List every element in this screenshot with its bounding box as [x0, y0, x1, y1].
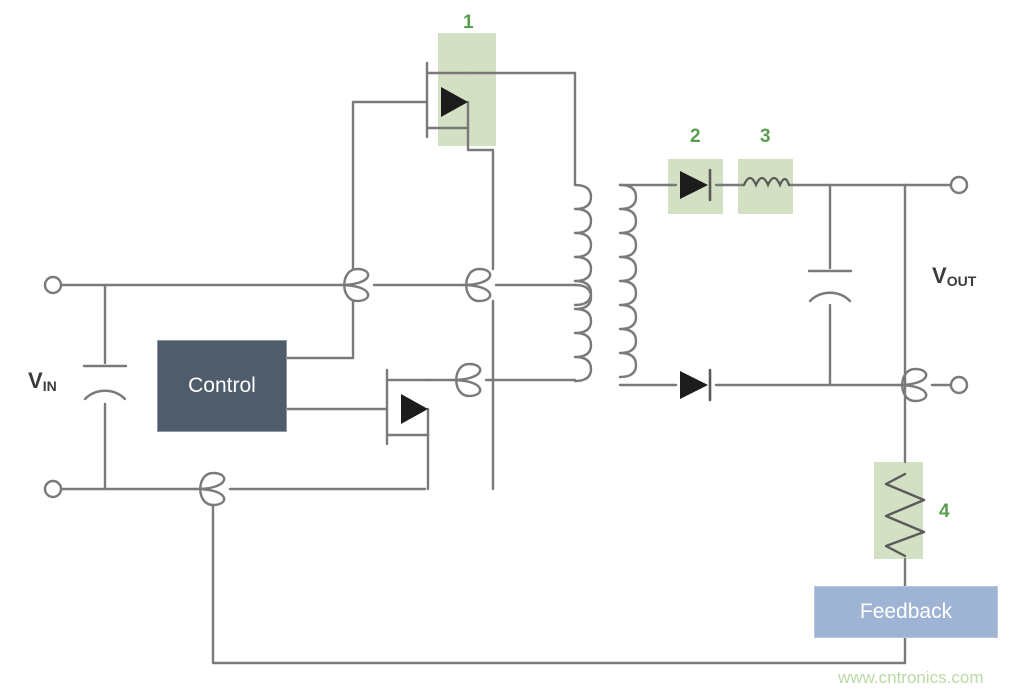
vout-label-sub: OUT	[947, 273, 977, 289]
vin-label-main: V	[28, 368, 43, 393]
cap-in-plate-bottom	[85, 391, 125, 399]
callout-number-4: 4	[939, 501, 950, 523]
wire-gate-top-to-control-2	[285, 301, 353, 358]
vin-label: VIN	[28, 368, 57, 394]
callout-number-2: 2	[690, 126, 701, 148]
feedback-block-label: Feedback	[860, 600, 952, 624]
schematic-diagram: Control Feedback 1 2 3 4 VIN VOUT www.cn…	[0, 0, 1017, 695]
feedback-block[interactable]: Feedback	[814, 586, 998, 638]
callout-number-3: 3	[760, 126, 771, 148]
terminal-vout-positive	[951, 177, 967, 193]
terminal-vin-positive	[45, 277, 61, 293]
callout-number-1: 1	[463, 12, 474, 34]
wire-hop-top-rail-1	[340, 269, 368, 301]
vin-label-sub: IN	[43, 378, 57, 394]
highlight-box-3	[738, 159, 793, 214]
wire-feedback-return	[213, 505, 905, 663]
cap-out-plate-bottom	[810, 293, 850, 301]
wire-hop-mosfet-bottom	[452, 364, 480, 396]
vout-label: VOUT	[932, 263, 976, 289]
terminal-vin-negative	[45, 481, 61, 497]
control-block-label: Control	[188, 374, 256, 398]
diode-bottom-triangle	[680, 371, 708, 399]
vout-label-main: V	[932, 263, 947, 288]
wire-hop-top-rail-2	[462, 269, 490, 301]
terminal-vout-negative	[951, 377, 967, 393]
wire-hop-vout-bottom	[898, 369, 926, 401]
watermark-text: www.cntronics.com	[838, 668, 983, 688]
wire-mosfet-top-source	[468, 128, 493, 269]
control-block[interactable]: Control	[157, 340, 287, 432]
wire-hop-bottom-rail	[196, 473, 224, 505]
mosfet-bottom-arrow	[401, 394, 428, 424]
transformer-secondary-coil	[620, 185, 636, 377]
